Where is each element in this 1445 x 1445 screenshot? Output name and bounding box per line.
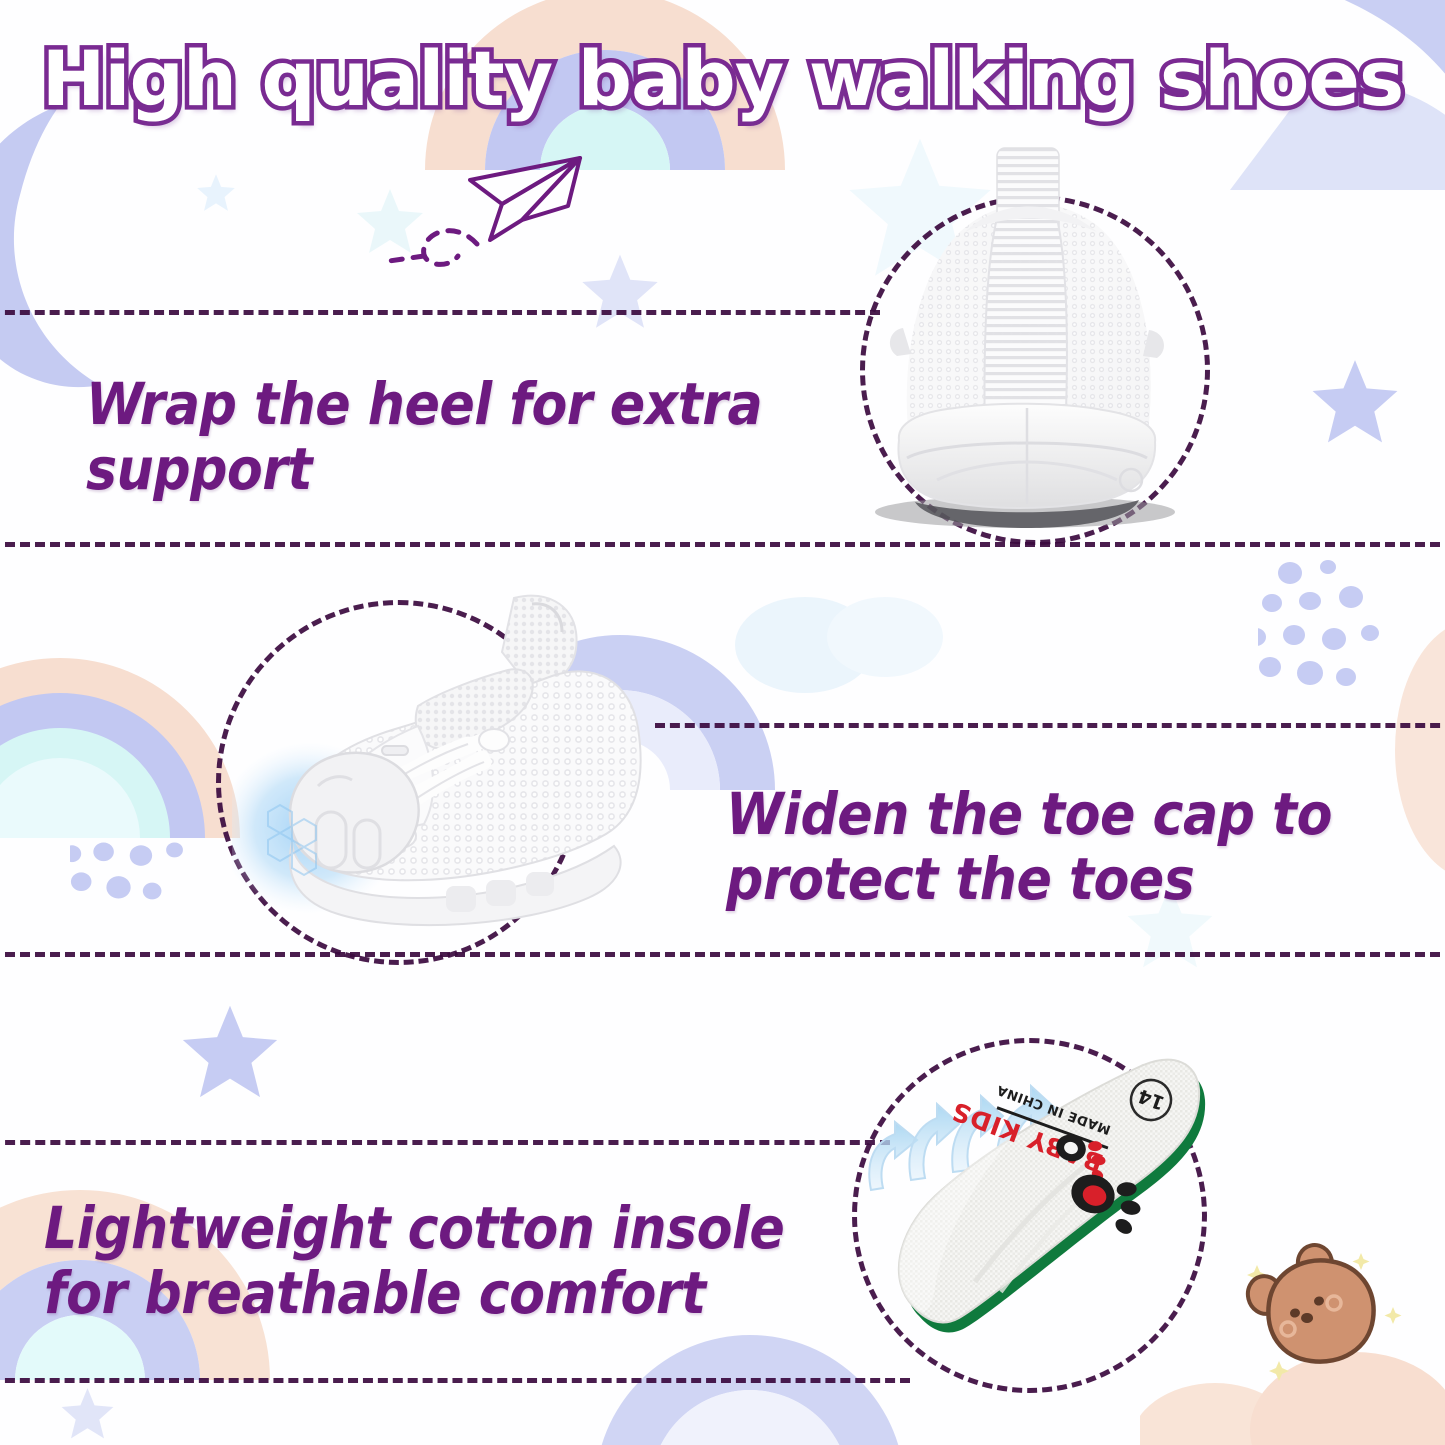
star-icon-blue-left (196, 172, 236, 212)
cloud-shape-right-edge (1380, 620, 1445, 880)
feature-caption-heel: Wrap the heel for extra support (86, 372, 846, 502)
divider-line-2 (0, 542, 1445, 547)
crescent-moon-icon (0, 95, 190, 395)
bear-face-icon (1243, 1243, 1403, 1383)
divider-line-5 (0, 1140, 890, 1145)
baby-shoe-insole-photo: 14 BABY KIDS MADE IN CHINA (855, 1030, 1215, 1380)
divider-line-4 (0, 952, 1445, 957)
dot-cluster-left (70, 775, 210, 910)
paper-plane-icon (372, 152, 602, 267)
rainbow-arc-left (0, 548, 250, 838)
divider-line-3 (655, 723, 1445, 728)
star-icon-bottom-small (60, 1385, 115, 1440)
baby-shoe-toe-photo (232, 580, 662, 950)
feature-caption-insole: Lightweight cotton insole for breathable… (44, 1196, 834, 1326)
dot-cluster-right (1258, 555, 1408, 695)
divider-line-6 (0, 1378, 910, 1383)
page-title: High quality baby walking shoes (0, 34, 1445, 123)
feature-caption-toe: Widen the toe cap to protect the toes (726, 782, 1366, 912)
cloud-shape-upper-right (735, 575, 955, 715)
product-infographic: High quality baby walking shoes Wrap the… (0, 0, 1445, 1445)
baby-shoe-heel-photo (845, 140, 1205, 540)
star-icon-right-mid (1310, 355, 1400, 445)
star-icon-bottom-left (180, 1000, 280, 1100)
divider-line-1 (0, 310, 880, 315)
